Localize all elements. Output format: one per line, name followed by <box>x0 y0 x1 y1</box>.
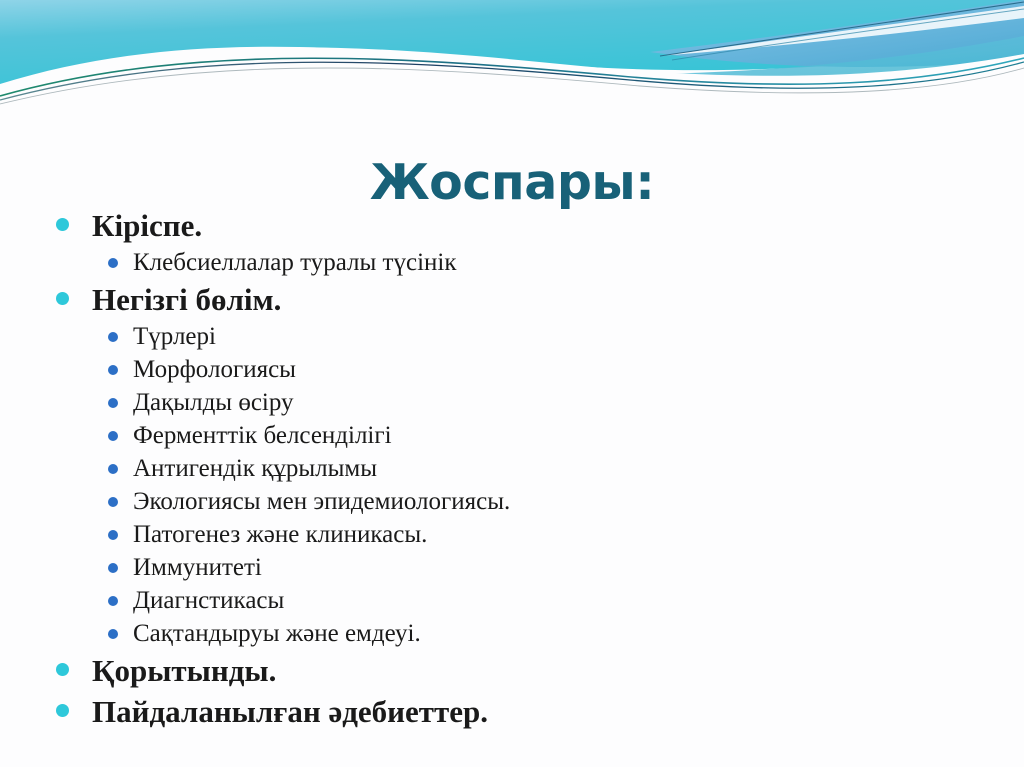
outline-item-label: Қорытынды. <box>92 650 1024 691</box>
outline-item-level1[interactable]: Қорытынды. <box>0 650 1024 691</box>
outline-item-level2[interactable]: Экологиясы мен эпидемиологиясы. <box>0 485 1024 518</box>
outline-level1-list: Кіріспе. Клебсиеллалар туралы түсінік Не… <box>0 205 1024 732</box>
bullet-level2-icon <box>108 629 118 639</box>
bullet-level2-icon <box>108 464 118 474</box>
bullet-level1-icon <box>56 218 69 231</box>
bullet-level2-icon <box>108 497 118 507</box>
page-title: Жоспары: <box>370 155 655 211</box>
outline-item-label: Иммунитеті <box>133 551 1024 584</box>
outline-item-label: Экологиясы мен эпидемиологиясы. <box>133 485 1024 518</box>
outline-item-level2[interactable]: Диагнстикасы <box>0 584 1024 617</box>
outline-item-label: Негізгі бөлім. <box>92 279 1024 320</box>
wave-line-teal <box>0 58 1024 96</box>
outline-item-level2[interactable]: Дақылды өсіру <box>0 386 1024 419</box>
presentation-slide: Жоспары: Кіріспе. Клебсиеллалар туралы т… <box>0 0 1024 767</box>
outline-item-label: Түрлері <box>133 320 1024 353</box>
outline-item-level2[interactable]: Клебсиеллалар туралы түсінік <box>0 246 1024 279</box>
outline-item-label: Патогенез және клиникасы. <box>133 518 1024 551</box>
outline-item-level2[interactable]: Антигендік құрылымы <box>0 452 1024 485</box>
wave-highlight-white <box>0 47 1024 118</box>
wave-line-grey <box>0 68 1024 104</box>
outline-item-label: Диагнстикасы <box>133 584 1024 617</box>
outline-level2-list: Түрлері Морфологиясы Дақылды өсіру Ферме… <box>0 320 1024 650</box>
outline-item-level1[interactable]: Кіріспе. <box>0 205 1024 246</box>
wave-strand-upper-1 <box>660 2 1024 56</box>
wave-line-navy <box>0 62 1024 100</box>
outline-item-label: Ферменттік белсенділігі <box>133 419 1024 452</box>
bullet-level2-icon <box>108 596 118 606</box>
outline-item-level1[interactable]: Негізгі бөлім. <box>0 279 1024 320</box>
bullet-level2-icon <box>108 332 118 342</box>
bullet-level2-icon <box>108 431 118 441</box>
bullet-level1-icon <box>56 704 69 717</box>
outline-item-label: Дақылды өсіру <box>133 386 1024 419</box>
bullet-level2-icon <box>108 258 118 268</box>
outline-item-label: Сақтандыруы және емдеуі. <box>133 617 1024 650</box>
outline-level2-list: Клебсиеллалар туралы түсінік <box>0 246 1024 279</box>
outline-item-label: Клебсиеллалар туралы түсінік <box>133 246 1024 279</box>
outline-list: Кіріспе. Клебсиеллалар туралы түсінік Не… <box>0 205 1024 732</box>
wave-shape-band <box>300 36 1024 94</box>
header-wave-decoration <box>0 0 1024 118</box>
outline-item-level2[interactable]: Морфологиясы <box>0 353 1024 386</box>
outline-item-level2[interactable]: Сақтандыруы және емдеуі. <box>0 617 1024 650</box>
bullet-level2-icon <box>108 563 118 573</box>
bullet-level2-icon <box>108 398 118 408</box>
bullet-level1-icon <box>56 663 69 676</box>
outline-item-level2[interactable]: Иммунитеті <box>0 551 1024 584</box>
outline-item-label: Антигендік құрылымы <box>133 452 1024 485</box>
wave-shape-left <box>0 0 1024 84</box>
outline-item-label: Пайдаланылған әдебиеттер. <box>92 691 1024 732</box>
bullet-level2-icon <box>108 365 118 375</box>
bullet-level1-icon <box>56 292 69 305</box>
wave-strand-upper-2 <box>672 9 1024 60</box>
outline-item-label: Кіріспе. <box>92 205 1024 246</box>
wave-highlight-sliver <box>660 6 1024 56</box>
wave-shape-right-blue <box>650 0 1024 67</box>
outline-item-level2[interactable]: Патогенез және клиникасы. <box>0 518 1024 551</box>
outline-item-level2[interactable]: Түрлері <box>0 320 1024 353</box>
outline-item-level2[interactable]: Ферменттік белсенділігі <box>0 419 1024 452</box>
bullet-level2-icon <box>108 530 118 540</box>
outline-item-label: Морфологиясы <box>133 353 1024 386</box>
outline-item-level1[interactable]: Пайдаланылған әдебиеттер. <box>0 691 1024 732</box>
